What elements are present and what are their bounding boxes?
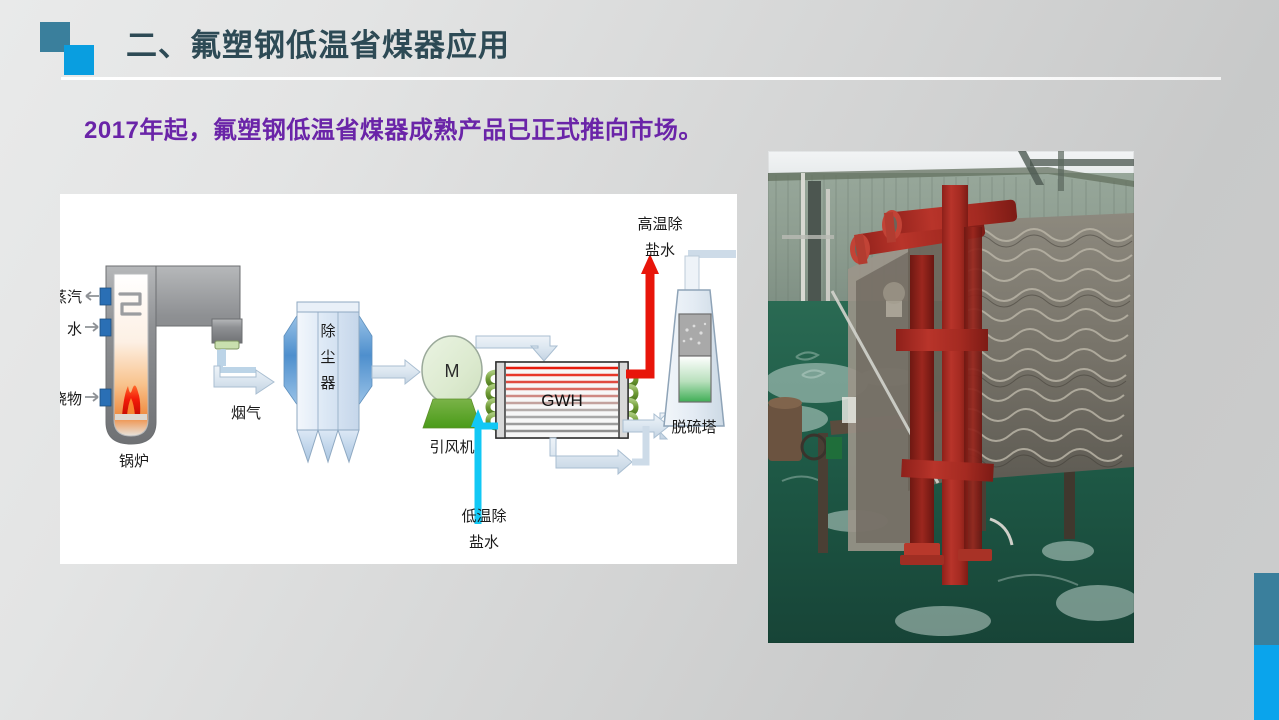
accent-bar-top [1254,573,1279,645]
label-fan: 引风机 [429,438,474,456]
site-photo [768,151,1134,643]
label-fuel: 燃烧物 [60,390,82,408]
desulfurization-tower: 脱硫塔 [664,254,736,436]
slide-subtitle: 2017年起，氟塑钢低温省煤器成熟产品已正式推向市场。 [84,110,703,145]
label-water: 水 [67,320,82,338]
label-dust-collector-3: 器 [320,374,335,392]
right-accent-bar [1254,573,1279,720]
label-hot-water-1: 高温除 [637,215,682,233]
label-boiler: 锅炉 [119,452,149,470]
label-steam: 蒸汽 [60,288,82,306]
label-cold-water-2: 盐水 [469,533,499,551]
label-flue-gas: 烟气 [231,404,261,422]
label-desulfur-tower: 脱硫塔 [671,418,716,436]
duct-fan-to-gwh [476,330,557,361]
dust-collector-unit: 除 尘 器 [284,302,372,462]
fan-motor-label: M [445,361,460,381]
label-dust-collector-2: 尘 [320,348,335,366]
label-cold-water-1: 低温除 [461,507,506,525]
flue-gas-duct: 烟气 [214,349,274,422]
label-hot-water-2: 盐水 [645,241,675,259]
process-flow-diagram: 蒸汽 水 燃烧物 锅炉 烟气 除 尘 器 M 引风机 [60,194,737,564]
induced-draft-fan: M 引风机 [422,336,482,456]
gwh-heat-exchanger: GWH [488,362,636,438]
header-decoration [40,22,102,70]
duct-collector-to-fan [372,360,420,384]
title-divider [61,77,1221,80]
accent-bar-bottom [1254,645,1279,720]
decor-square-light-icon [64,45,94,75]
page-title: 二、氟塑钢低温省煤器应用 [126,20,510,65]
label-dust-collector-1: 除 [320,322,335,340]
gwh-label: GWH [541,391,583,410]
